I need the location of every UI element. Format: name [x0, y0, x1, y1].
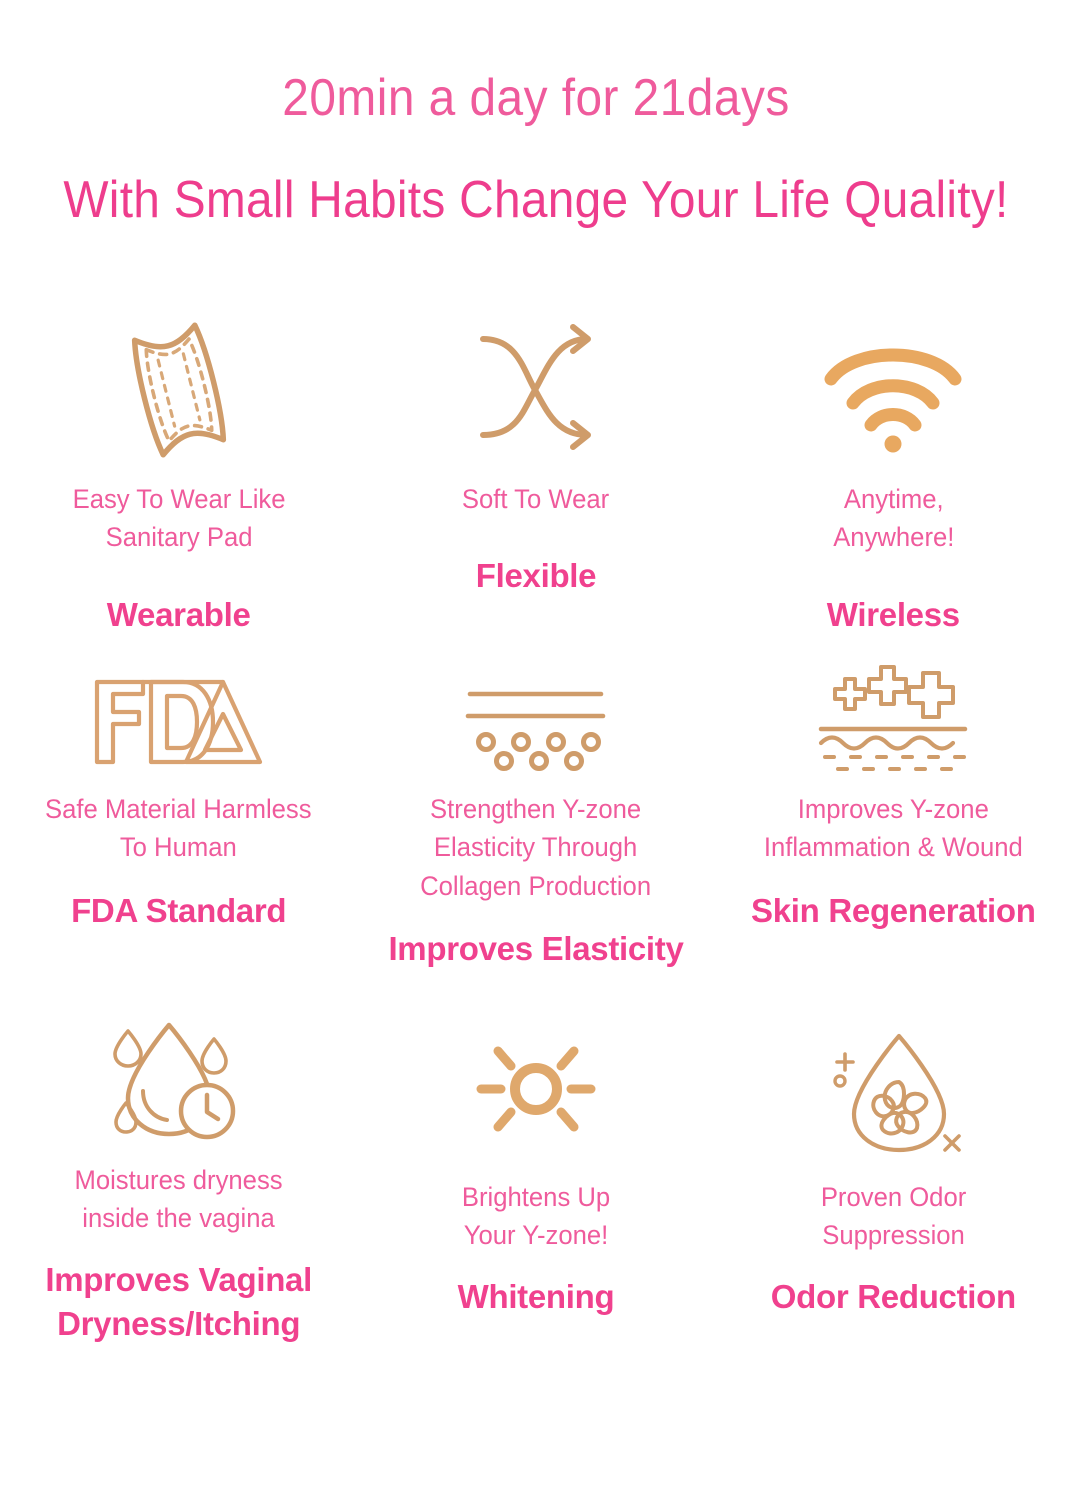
subtitle-line: inside the vagina: [75, 1199, 283, 1237]
feature-label: Wireless: [827, 593, 960, 637]
feature-card-wireless: Anytime, Anywhere! Wireless: [715, 296, 1072, 646]
feature-card-whitening: Brightens Up Your Y-zone! Whitening: [357, 996, 714, 1346]
crossing-arrows-icon: [461, 304, 611, 476]
feature-subtitle: Safe Material Harmless To Human: [45, 790, 312, 867]
subtitle-line: Inflammation & Wound: [764, 828, 1023, 866]
feature-label: Skin Regeneration: [751, 889, 1036, 933]
feature-subtitle: Brightens Up Your Y-zone!: [462, 1178, 610, 1255]
feature-subtitle: Soft To Wear: [462, 480, 609, 518]
sun-icon: [471, 1014, 601, 1164]
sanitary-pad-icon: [104, 304, 254, 476]
subtitle-line: Proven Odor: [821, 1178, 966, 1216]
feature-label: Improves Vaginal Dryness/Itching: [45, 1258, 312, 1346]
subtitle-line: Soft To Wear: [462, 480, 609, 518]
page-subtitle: With Small Habits Change Your Life Quali…: [43, 174, 1029, 226]
feature-label: Whitening: [458, 1275, 615, 1319]
wifi-icon: [818, 304, 968, 476]
subtitle-line: Suppression: [821, 1216, 966, 1254]
page-title: 20min a day for 21days: [43, 72, 1029, 124]
feature-subtitle: Strengthen Y-zone Elasticity Through Col…: [420, 790, 651, 905]
label-line: Improves Vaginal: [45, 1258, 312, 1302]
subtitle-line: Elasticity Through: [420, 828, 651, 866]
feature-subtitle: Improves Y-zone Inflammation & Wound: [764, 790, 1023, 867]
subtitle-line: Safe Material Harmless: [45, 790, 312, 828]
feature-subtitle: Proven Odor Suppression: [821, 1178, 966, 1255]
collagen-layers-icon: [448, 656, 623, 788]
feature-label: Odor Reduction: [771, 1275, 1016, 1319]
droplet-flower-icon: [821, 1014, 966, 1164]
subtitle-line: Anywhere!: [833, 518, 954, 556]
subtitle-line: Anytime,: [833, 480, 954, 518]
feature-subtitle: Anytime, Anywhere!: [833, 480, 954, 557]
subtitle-line: Easy To Wear Like: [72, 480, 285, 518]
infographic-page: 20min a day for 21days With Small Habits…: [0, 0, 1072, 1500]
subtitle-line: Improves Y-zone: [764, 790, 1023, 828]
subtitle-line: To Human: [45, 828, 312, 866]
feature-card-improves-vaginal-dryness: Moistures dryness inside the vagina Impr…: [0, 996, 357, 1346]
feature-subtitle: Moistures dryness inside the vagina: [75, 1161, 283, 1238]
feature-card-wearable: Easy To Wear Like Sanitary Pad Wearable: [0, 296, 357, 646]
subtitle-line: Strengthen Y-zone: [420, 790, 651, 828]
feature-card-odor-reduction: Proven Odor Suppression Odor Reduction: [715, 996, 1072, 1346]
feature-card-fda-standard: Safe Material Harmless To Human FDA Stan…: [0, 646, 357, 996]
subtitle-line: Brightens Up: [462, 1178, 610, 1216]
feature-label: Wearable: [107, 593, 251, 637]
feature-card-flexible: Soft To Wear Flexible: [357, 296, 714, 646]
subtitle-line: Your Y-zone!: [462, 1216, 610, 1254]
water-droplet-clock-icon: [104, 1014, 254, 1147]
feature-subtitle: Easy To Wear Like Sanitary Pad: [72, 480, 285, 557]
subtitle-line: Collagen Production: [420, 867, 651, 905]
headings-block: 20min a day for 21days With Small Habits…: [0, 0, 1072, 226]
label-line: Dryness/Itching: [45, 1302, 312, 1346]
feature-label: FDA Standard: [71, 889, 286, 933]
feature-grid: Easy To Wear Like Sanitary Pad Wearable …: [0, 296, 1072, 1346]
fda-logo-icon: [91, 656, 266, 788]
feature-label: Flexible: [476, 554, 596, 598]
feature-card-skin-regeneration: Improves Y-zone Inflammation & Wound Ski…: [715, 646, 1072, 996]
subtitle-line: Sanitary Pad: [72, 518, 285, 556]
skin-healing-crosses-icon: [813, 656, 973, 788]
feature-label: Improves Elasticity: [388, 927, 683, 971]
subtitle-line: Moistures dryness: [75, 1161, 283, 1199]
feature-card-improves-elasticity: Strengthen Y-zone Elasticity Through Col…: [357, 646, 714, 996]
